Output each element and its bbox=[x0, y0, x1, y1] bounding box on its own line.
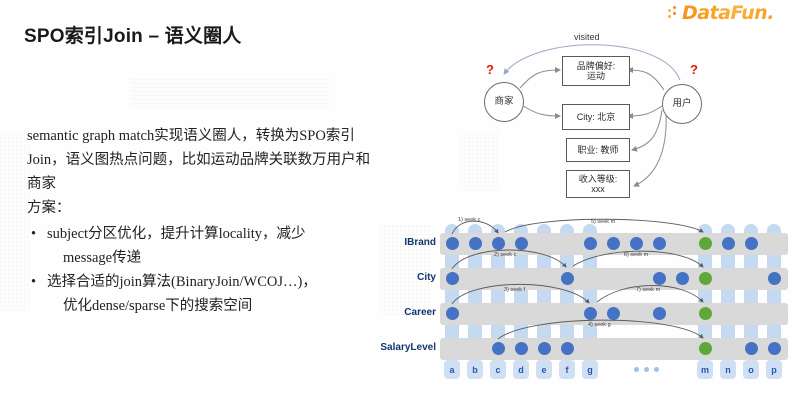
column-label-d: d bbox=[513, 360, 529, 379]
cell-dot bbox=[745, 342, 758, 355]
cell-dot bbox=[584, 307, 597, 320]
cell-dot bbox=[745, 237, 758, 250]
bullet-line-2: message传递 bbox=[47, 246, 372, 270]
property-value: xxx bbox=[591, 184, 605, 195]
cell-dot bbox=[538, 342, 551, 355]
cell-dot bbox=[653, 237, 666, 250]
column-label-e: e bbox=[536, 360, 552, 379]
bullet-dot-icon: • bbox=[31, 222, 36, 246]
list-item: • 选择合适的join算法(BinaryJoin/WCOJ…)， 优化dense… bbox=[27, 270, 372, 318]
body-paragraph: semantic graph match实现语义圈人，转换为SPO索引Join，… bbox=[27, 124, 372, 196]
cell-dot bbox=[515, 237, 528, 250]
property-key: 收入等级: bbox=[579, 174, 618, 185]
cell-dot bbox=[768, 272, 781, 285]
property-box-city: City: 北京 bbox=[562, 104, 630, 130]
row-band-city bbox=[440, 268, 788, 290]
cell-dot bbox=[607, 307, 620, 320]
cell-dot bbox=[515, 342, 528, 355]
cell-dot bbox=[607, 237, 620, 250]
seek-label-5: 5) seek m bbox=[591, 219, 615, 225]
bullet-line-2: 优化dense/sparse下的搜索空间 bbox=[47, 294, 372, 318]
column-label-a: a bbox=[444, 360, 460, 379]
bullet-dot-icon: • bbox=[31, 270, 36, 294]
logo-dots-icon bbox=[668, 6, 681, 20]
property-box-income: 收入等级: xxx bbox=[566, 170, 630, 198]
plan-label: 方案： bbox=[27, 196, 372, 220]
property-box-brand: 品牌偏好: 运动 bbox=[562, 56, 630, 86]
cell-dot bbox=[446, 307, 459, 320]
list-item: • subject分区优化，提升计算locality，减少 message传递 bbox=[27, 222, 372, 270]
cell-dot bbox=[561, 272, 574, 285]
ellipsis-dot bbox=[644, 367, 649, 372]
cell-dot-match bbox=[699, 342, 712, 355]
seek-label-1: 1) seek c bbox=[458, 217, 480, 223]
column-label-g: g bbox=[582, 360, 598, 379]
right-question-marker: ? bbox=[690, 62, 698, 77]
property-key: City: 北京 bbox=[577, 112, 616, 123]
seek-label-3: 3) seek f bbox=[504, 287, 525, 293]
cell-dot-match bbox=[699, 272, 712, 285]
background-texture bbox=[0, 130, 30, 310]
spo-index-matrix: IBrand City Career SalaryLevel bbox=[376, 218, 796, 398]
cell-dot bbox=[446, 272, 459, 285]
column-label-f: f bbox=[559, 360, 575, 379]
cell-dot bbox=[676, 272, 689, 285]
semantic-graph-diagram: visited ? ? 商家 用户 品牌偏好: 运动 City: 北京 职业: … bbox=[462, 28, 720, 220]
slide-canvas: DataFun. SPO索引Join – 语义圈人 semantic graph… bbox=[0, 0, 799, 401]
node-user: 用户 bbox=[662, 84, 702, 124]
seek-label-6: 6) seek m bbox=[624, 252, 648, 258]
bullet-list: • subject分区优化，提升计算locality，减少 message传递 … bbox=[27, 222, 372, 318]
cell-dot bbox=[653, 272, 666, 285]
node-merchant: 商家 bbox=[484, 82, 524, 122]
cell-dot bbox=[492, 237, 505, 250]
cell-dot bbox=[492, 342, 505, 355]
page-title: SPO索引Join – 语义圈人 bbox=[24, 21, 242, 48]
ellipsis-dot bbox=[654, 367, 659, 372]
cell-dot-match bbox=[699, 237, 712, 250]
column-label-c: c bbox=[490, 360, 506, 379]
seek-label-7: 7) seek m bbox=[636, 287, 660, 293]
cell-dot bbox=[653, 307, 666, 320]
left-question-marker: ? bbox=[486, 62, 494, 77]
cell-dot bbox=[630, 237, 643, 250]
property-box-career: 职业: 教师 bbox=[566, 138, 630, 162]
column-label-p: p bbox=[766, 360, 782, 379]
cell-dot bbox=[768, 342, 781, 355]
column-label-n: n bbox=[720, 360, 736, 379]
cell-dot bbox=[446, 237, 459, 250]
cell-dot bbox=[584, 237, 597, 250]
row-label-city: City bbox=[374, 272, 436, 283]
property-value: 运动 bbox=[587, 71, 605, 82]
cell-dot bbox=[561, 342, 574, 355]
bullet-line-1: subject分区优化，提升计算locality，减少 bbox=[47, 226, 306, 242]
cell-dot-match bbox=[699, 307, 712, 320]
column-label-o: o bbox=[743, 360, 759, 379]
column-label-b: b bbox=[467, 360, 483, 379]
background-texture bbox=[130, 78, 330, 108]
edge-label-visited: visited bbox=[574, 32, 600, 42]
cell-dot bbox=[722, 237, 735, 250]
bullet-line-1: 选择合适的join算法(BinaryJoin/WCOJ…)， bbox=[47, 274, 317, 290]
row-label-ibrand: IBrand bbox=[374, 237, 436, 248]
property-key: 品牌偏好: bbox=[577, 61, 616, 72]
datafun-logo: DataFun. bbox=[668, 1, 793, 25]
ellipsis-dot bbox=[634, 367, 639, 372]
row-label-salarylevel: SalaryLevel bbox=[364, 342, 436, 353]
logo-wordmark: DataFun. bbox=[682, 2, 774, 24]
body-copy: semantic graph match实现语义圈人，转换为SPO索引Join，… bbox=[27, 124, 372, 318]
cell-dot bbox=[469, 237, 482, 250]
property-key: 职业: 教师 bbox=[577, 145, 618, 156]
seek-label-2: 2) seek c bbox=[494, 252, 516, 258]
column-label-m: m bbox=[697, 360, 713, 379]
seek-label-4: 4) seek g bbox=[588, 322, 611, 328]
row-label-career: Career bbox=[374, 307, 436, 318]
